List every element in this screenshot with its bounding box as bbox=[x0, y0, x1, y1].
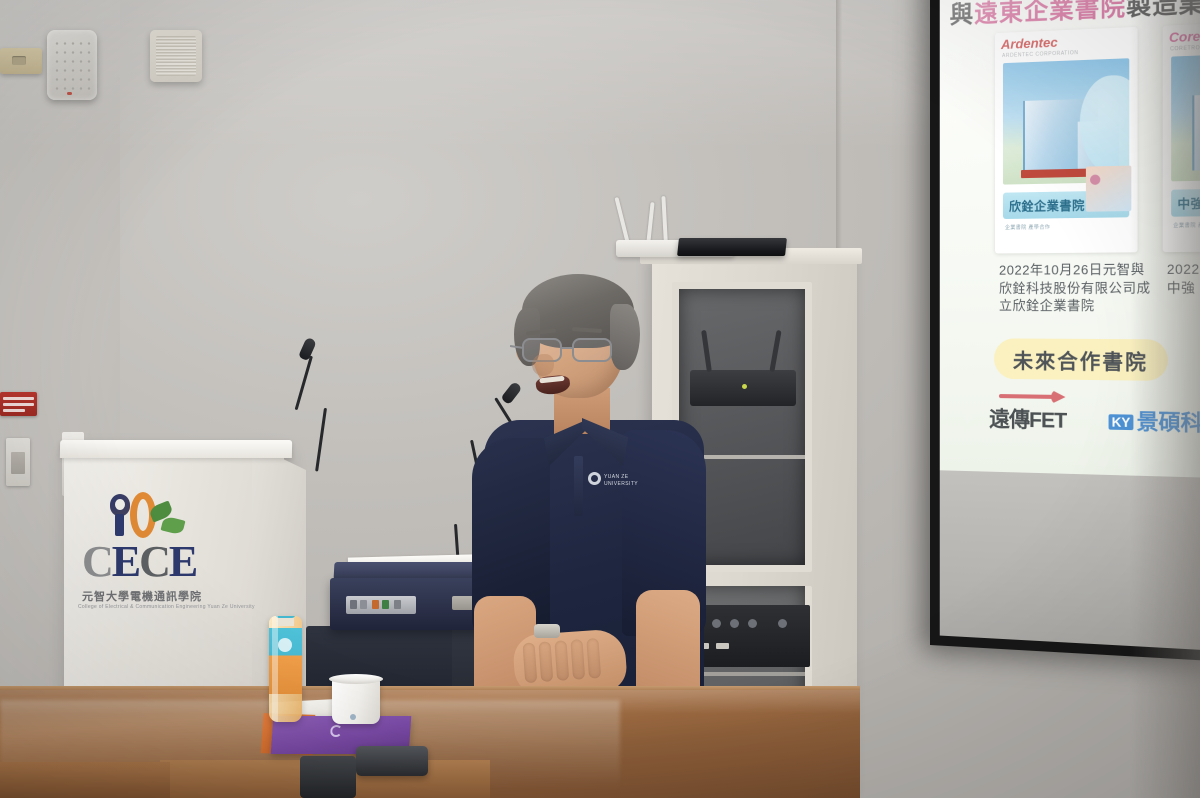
printer-control-panel[interactable] bbox=[346, 596, 416, 614]
logo-letter-c1: C bbox=[82, 537, 112, 586]
wall-shadow bbox=[1130, 0, 1200, 798]
desk-panel-left bbox=[0, 762, 170, 798]
ardentec-logo: Ardentec bbox=[1001, 34, 1058, 52]
arrow-icon bbox=[999, 389, 1070, 404]
bottle-highlight bbox=[272, 616, 278, 722]
cup-logo-icon bbox=[350, 714, 356, 720]
tea-bottle bbox=[269, 616, 302, 722]
slide-title-prefix: 與 bbox=[950, 1, 975, 29]
speaker-grille bbox=[156, 36, 196, 76]
emergency-light-icon bbox=[47, 30, 97, 100]
ardentec-academy-sublabel: 企業書院 產學合作 bbox=[1005, 223, 1050, 231]
logo-english-name: College of Electrical & Communication En… bbox=[78, 604, 206, 610]
black-av-device-icon bbox=[677, 238, 787, 256]
nose bbox=[532, 354, 554, 376]
bottle-cap bbox=[276, 616, 295, 618]
logo-letter-e2: E bbox=[169, 537, 196, 586]
light-diffuser-dots bbox=[53, 39, 91, 91]
shirt-placket bbox=[574, 456, 583, 516]
router-led-icon bbox=[742, 384, 747, 389]
college-logo: CECE 元智大學電機通訊學院 College of Electrical & … bbox=[82, 492, 202, 622]
box-swirl-icon bbox=[330, 725, 343, 737]
photograph-scene: 112年2月成立 與遠東企業書院製造業學 Ardentec ARDENTEC C… bbox=[0, 0, 1200, 798]
wristwatch bbox=[534, 624, 560, 638]
light-switch-plate[interactable] bbox=[6, 438, 30, 486]
shirt-chest-logo: YUAN ZEUNIVERSITY bbox=[588, 472, 634, 487]
logo-chinese-name: 元智大學電機通訊學院 bbox=[78, 588, 206, 604]
led-indicator bbox=[67, 92, 72, 95]
gooseneck-microphone-left bbox=[300, 338, 380, 468]
logo-acronym: CECE bbox=[82, 540, 202, 584]
logo-letter-c2: C bbox=[139, 537, 169, 586]
red-warning-sign bbox=[0, 392, 37, 416]
wall-speaker-icon bbox=[150, 30, 202, 82]
lectern-surface bbox=[60, 440, 292, 458]
students-photo bbox=[1086, 166, 1131, 212]
slide-title-highlight: 遠東企業書院 bbox=[974, 0, 1126, 28]
microphone-desk-base bbox=[356, 746, 428, 776]
paper-cup bbox=[332, 678, 380, 724]
microphone-desk-base-secondary bbox=[300, 756, 356, 798]
logo-leaf-icon bbox=[150, 504, 190, 538]
slide-card-ardentec: Ardentec ARDENTEC CORPORATION 欣銓企業書院 企業書… bbox=[995, 27, 1138, 254]
wall-bracket bbox=[0, 48, 42, 74]
microphone-capsule-icon bbox=[298, 337, 317, 362]
fet-logo: 遠傳FET bbox=[989, 403, 1066, 435]
logo-figure-icon bbox=[108, 494, 132, 540]
logo-letter-e1: E bbox=[112, 537, 139, 586]
